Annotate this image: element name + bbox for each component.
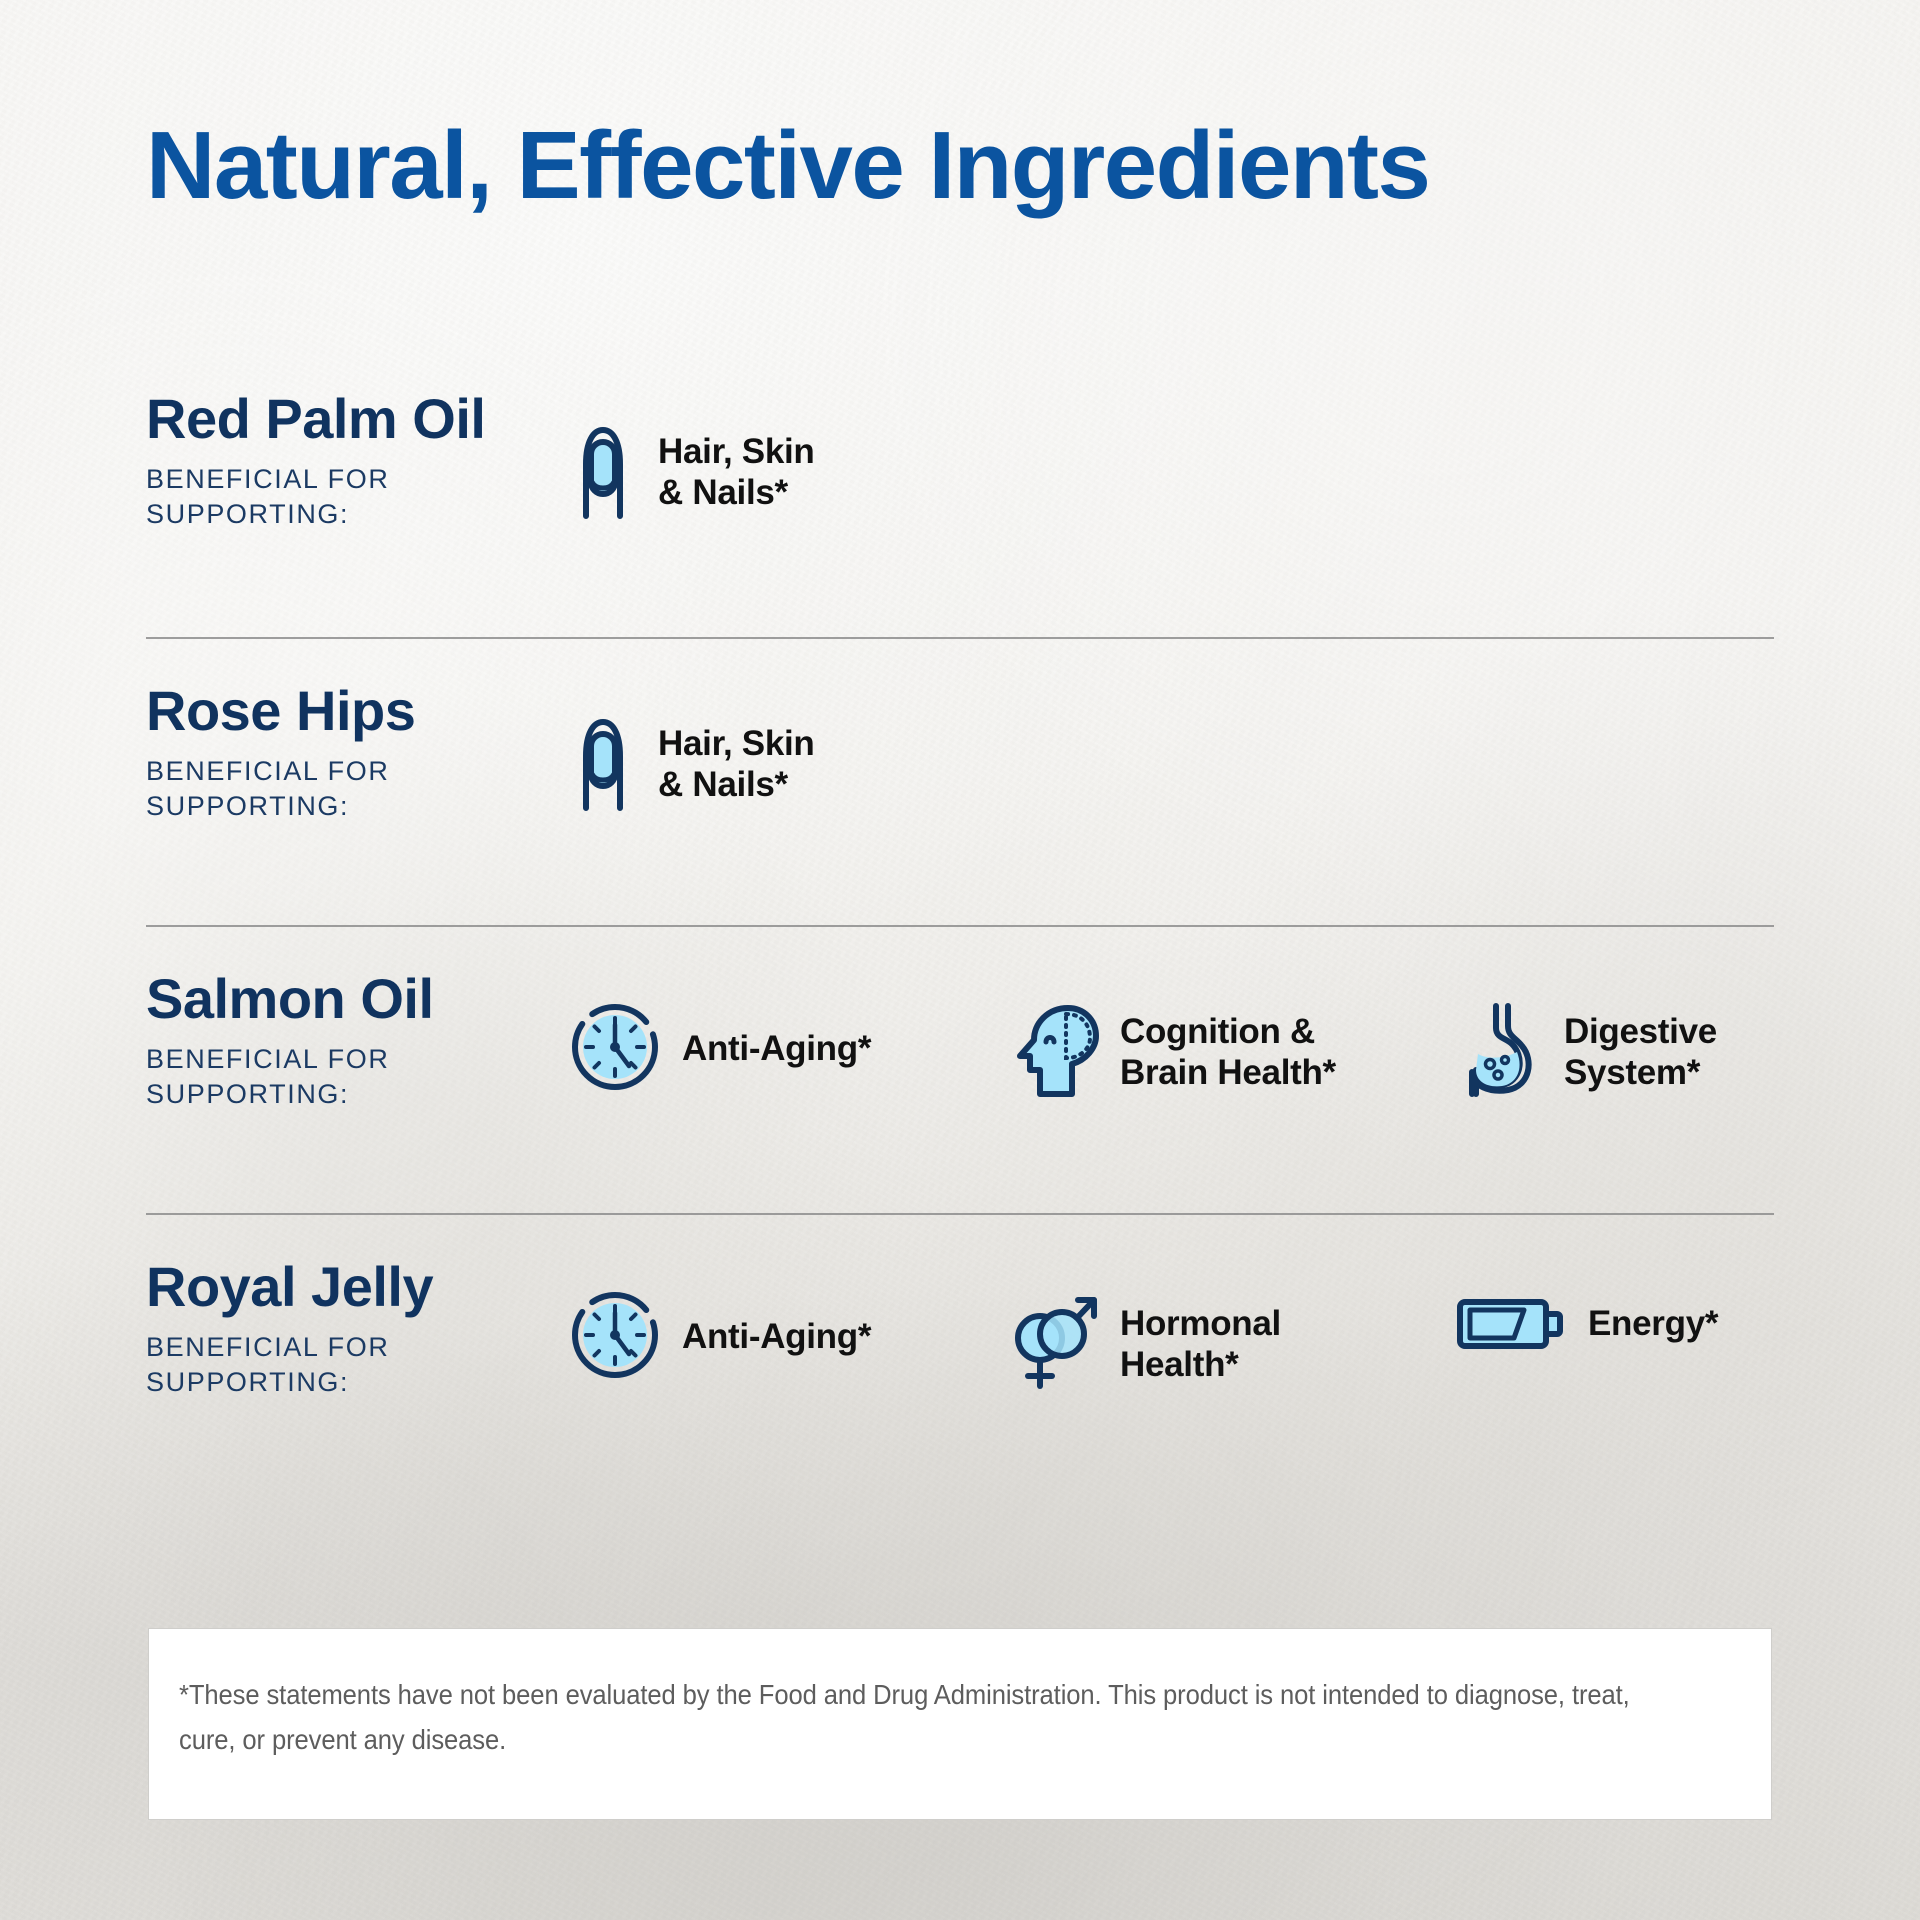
benefit-item: Digestive System* bbox=[1454, 998, 1784, 1107]
stomach-icon bbox=[1454, 998, 1546, 1107]
ingredient-info: Royal Jelly Beneficial for supporting: bbox=[146, 1256, 566, 1400]
benefit-label: Anti-Aging* bbox=[682, 1317, 871, 1358]
ingredient-name: Red Palm Oil bbox=[146, 390, 566, 448]
disclaimer-text: *These statements have not been evaluate… bbox=[179, 1673, 1632, 1762]
benefit-label: Digestive System* bbox=[1564, 1012, 1717, 1093]
benefit-item: Hair, Skin & Nails* bbox=[566, 710, 1086, 819]
ingredient-subtitle: Beneficial for supporting: bbox=[146, 1042, 566, 1112]
head-brain-icon bbox=[1006, 998, 1102, 1107]
row-divider bbox=[146, 1213, 1774, 1215]
benefit-list: Hair, Skin & Nails* bbox=[566, 388, 1774, 527]
benefit-label: Cognition & Brain Health* bbox=[1120, 1012, 1336, 1093]
benefit-item: Hormonal Health* bbox=[1006, 1286, 1454, 1403]
fingernail-icon bbox=[566, 418, 640, 527]
ingredient-row-rose-hips: Rose Hips Beneficial for supporting: Hai… bbox=[146, 680, 1774, 824]
ingredient-info: Salmon Oil Beneficial for supporting: bbox=[146, 968, 566, 1112]
benefit-item: Cognition & Brain Health* bbox=[1006, 998, 1454, 1107]
ingredient-subtitle: Beneficial for supporting: bbox=[146, 462, 566, 532]
gender-symbols-icon bbox=[1006, 1286, 1102, 1403]
benefit-label: Hair, Skin & Nails* bbox=[658, 432, 815, 513]
benefit-list: Hair, Skin & Nails* bbox=[566, 680, 1774, 819]
ingredient-row-salmon-oil: Salmon Oil Beneficial for supporting: bbox=[146, 968, 1774, 1112]
ingredient-name: Royal Jelly bbox=[146, 1258, 566, 1316]
benefit-label: Anti-Aging* bbox=[682, 1029, 871, 1070]
page-title: Natural, Effective Ingredients bbox=[146, 118, 1429, 214]
benefit-item: Hair, Skin & Nails* bbox=[566, 418, 1086, 527]
ingredient-name: Salmon Oil bbox=[146, 970, 566, 1028]
benefit-list: Anti-Aging* Cognition & Brain Health* bbox=[566, 968, 1784, 1107]
ingredient-row-royal-jelly: Royal Jelly Beneficial for supporting: bbox=[146, 1256, 1774, 1403]
benefit-item: Anti-Aging* bbox=[566, 1286, 1006, 1389]
benefit-label: Hormonal Health* bbox=[1120, 1304, 1281, 1385]
battery-icon bbox=[1454, 1286, 1570, 1363]
ingredient-info: Red Palm Oil Beneficial for supporting: bbox=[146, 388, 566, 532]
fingernail-icon bbox=[566, 710, 640, 819]
benefit-label: Hair, Skin & Nails* bbox=[658, 724, 815, 805]
ingredient-name: Rose Hips bbox=[146, 682, 566, 740]
ingredient-row-red-palm-oil: Red Palm Oil Beneficial for supporting: … bbox=[146, 388, 1774, 532]
benefit-item: Anti-Aging* bbox=[566, 998, 1006, 1101]
disclaimer-box: *These statements have not been evaluate… bbox=[148, 1628, 1772, 1820]
ingredient-info: Rose Hips Beneficial for supporting: bbox=[146, 680, 566, 824]
clock-icon bbox=[566, 998, 664, 1101]
ingredient-subtitle: Beneficial for supporting: bbox=[146, 1330, 566, 1400]
ingredient-subtitle: Beneficial for supporting: bbox=[146, 754, 566, 824]
benefit-label: Energy* bbox=[1588, 1304, 1718, 1345]
row-divider bbox=[146, 637, 1774, 639]
benefit-list: Anti-Aging* Hormonal Health* bbox=[566, 1256, 1784, 1403]
benefit-item: Energy* bbox=[1454, 1286, 1784, 1363]
row-divider bbox=[146, 925, 1774, 927]
clock-icon bbox=[566, 1286, 664, 1389]
